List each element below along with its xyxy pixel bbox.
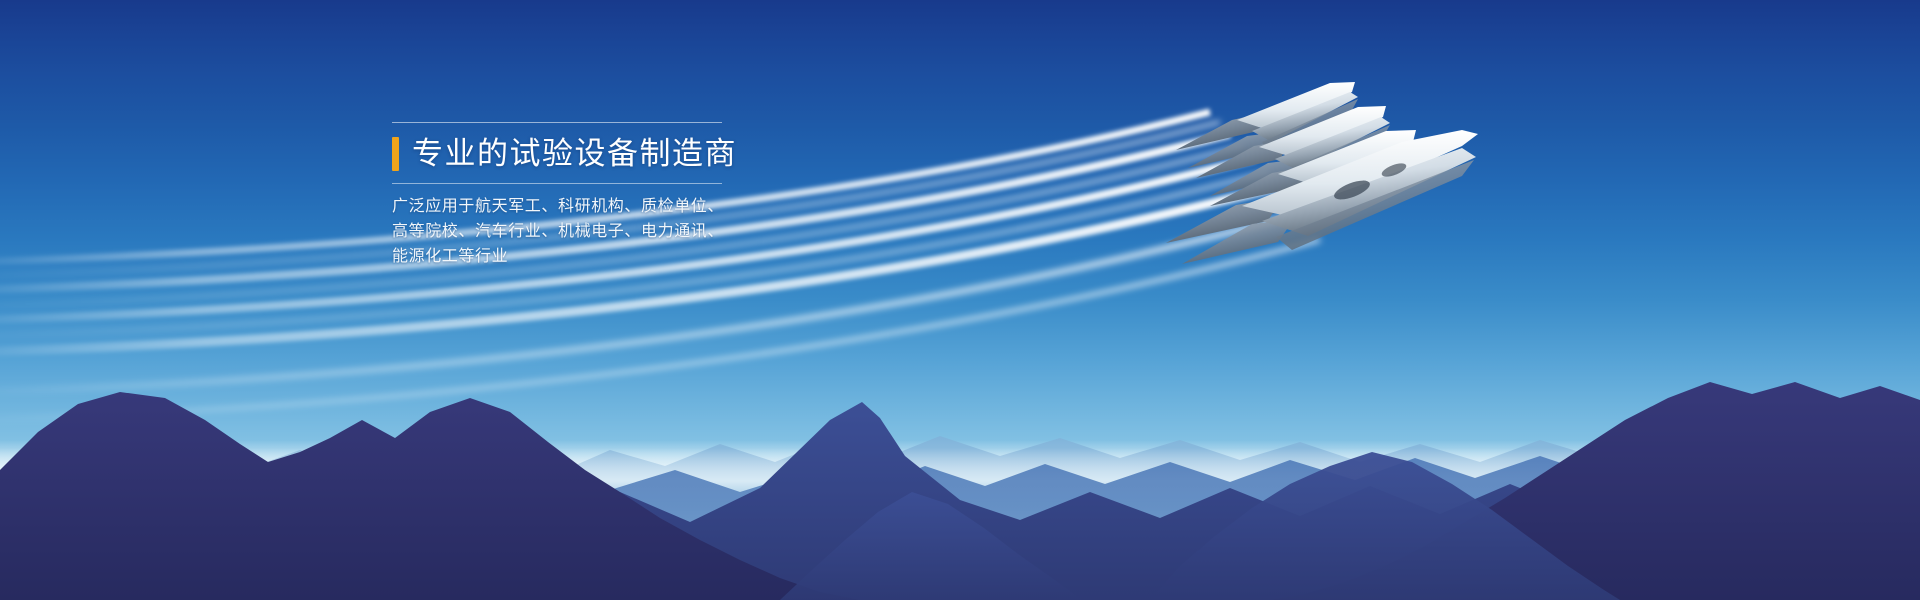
headline-rule-top (392, 122, 722, 123)
banner-text-block: 专业的试验设备制造商 广泛应用于航天军工、科研机构、质检单位、 高等院校、汽车行… (392, 122, 752, 269)
subtitle-line-3: 能源化工等行业 (392, 244, 752, 269)
mountain-range-silhouette (0, 0, 1920, 600)
subtitle-line-1: 广泛应用于航天军工、科研机构、质检单位、 (392, 194, 752, 219)
accent-bar (392, 137, 399, 171)
headline-rule-bottom (392, 183, 722, 184)
page-title: 专业的试验设备制造商 (412, 137, 737, 171)
subtitle-block: 广泛应用于航天军工、科研机构、质检单位、 高等院校、汽车行业、机械电子、电力通讯… (392, 194, 752, 269)
headline-row: 专业的试验设备制造商 (392, 130, 752, 177)
hero-banner: 专业的试验设备制造商 广泛应用于航天军工、科研机构、质检单位、 高等院校、汽车行… (0, 0, 1920, 600)
subtitle-line-2: 高等院校、汽车行业、机械电子、电力通讯、 (392, 219, 752, 244)
